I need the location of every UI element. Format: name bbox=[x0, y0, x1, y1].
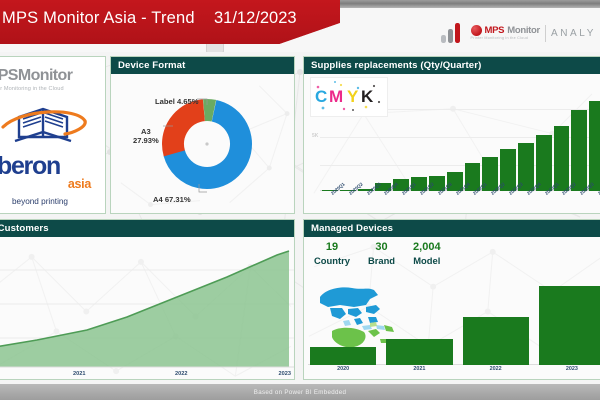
report-app: MPS Monitor Asia - Trend 31/12/2023 MPS … bbox=[0, 0, 600, 400]
bar-chart-icon bbox=[440, 22, 466, 44]
svg-text:M: M bbox=[329, 87, 343, 106]
x-label-2022Q4: 2022Q4 bbox=[518, 191, 534, 213]
x-label-2021Q1: 2021Q1 bbox=[393, 191, 409, 213]
managed-devices-bars bbox=[310, 283, 600, 365]
x-label-2022: 2022 bbox=[175, 371, 187, 377]
x-label-2021Q3: 2021Q3 bbox=[429, 191, 445, 213]
bar-2023Q4[interactable] bbox=[589, 101, 600, 191]
kpi-brand: 30 Brand bbox=[368, 241, 395, 267]
printer-icon bbox=[0, 101, 107, 149]
kpi-model-label: Model bbox=[413, 255, 440, 267]
kpi-country-value: 19 bbox=[326, 241, 338, 255]
x-label-2020Q4: 2020Q4 bbox=[375, 191, 391, 213]
x-label-2023Q1: 2023Q1 bbox=[536, 191, 552, 213]
report-footer: Based on Power BI Embedded bbox=[0, 384, 600, 400]
report-canvas: MPSMonitor Printer Monitoring in the Clo… bbox=[0, 52, 600, 384]
panel-title-managed-devices: Managed Devices bbox=[304, 220, 600, 237]
panel-supplies-replacements: Supplies replacements (Qty/Quarter) 10K … bbox=[303, 56, 600, 214]
oberon-logo: oberon asia beyond printing bbox=[0, 101, 107, 206]
cmyk-image: C M Y K bbox=[310, 77, 388, 117]
kpi-model-value: 2,004 bbox=[413, 241, 441, 255]
page-title: MPS Monitor Asia - Trend bbox=[2, 9, 195, 28]
md-bar-2021[interactable] bbox=[386, 339, 452, 365]
x-label-2022Q2: 2022Q2 bbox=[482, 191, 498, 213]
x-label-2022Q3: 2022Q3 bbox=[500, 191, 516, 213]
y-tick-5k: 5K bbox=[312, 133, 318, 139]
logo-mps-word: MPS bbox=[0, 67, 18, 84]
donut-label-a3: A327.93% bbox=[133, 128, 159, 145]
x-label-2021Q4: 2021Q4 bbox=[447, 191, 463, 213]
logo-tagline: Printer Monitoring in the Cloud bbox=[0, 86, 72, 92]
x-label-2020Q2: 2020Q2 bbox=[340, 191, 356, 213]
md-bar-2022[interactable] bbox=[463, 317, 529, 365]
footer-text: Based on Power BI Embedded bbox=[254, 389, 346, 396]
md-x-label-2020: 2020 bbox=[310, 366, 376, 378]
report-date: 31/12/2023 bbox=[214, 9, 297, 28]
donut-chart-device-format: Label 4.65% A327.93% A4 67.31% bbox=[111, 74, 294, 213]
md-x-label-2021: 2021 bbox=[386, 366, 452, 378]
managed-kpi-group: 19 Country 30 Brand 2,004 Model bbox=[314, 241, 441, 267]
cmyk-letters-icon: C M Y K bbox=[311, 78, 385, 114]
kpi-country-label: Country bbox=[314, 255, 350, 267]
panel-device-format: Device Format bbox=[110, 56, 295, 214]
panel-managed-devices: Managed Devices bbox=[303, 219, 600, 380]
mps-dot-icon bbox=[471, 25, 482, 36]
x-label-2023: 2023 bbox=[279, 371, 291, 377]
md-bar-2020[interactable] bbox=[310, 347, 376, 365]
kpi-brand-label: Brand bbox=[368, 255, 395, 267]
panel-title-supplies: Supplies replacements (Qty/Quarter) bbox=[304, 57, 600, 74]
panel-active-customers: ve Customers bbox=[0, 219, 295, 380]
divider bbox=[545, 25, 546, 42]
product-suffix: ANALY bbox=[551, 28, 596, 39]
bar-2023Q3[interactable] bbox=[571, 110, 587, 191]
header-brand-lockup: MPS Monitor Printer Monitoring in the Cl… bbox=[440, 22, 596, 44]
x-label-2021Q2: 2021Q2 bbox=[411, 191, 427, 213]
title-banner: MPS Monitor Asia - Trend 31/12/2023 bbox=[0, 0, 340, 44]
donut-label-label: Label 4.65% bbox=[155, 98, 198, 107]
brand-tagline: Printer Monitoring in the Cloud bbox=[471, 37, 540, 41]
supplies-x-labels: 2020Q12020Q22020Q32020Q42021Q12021Q22021… bbox=[322, 191, 600, 213]
svg-text:C: C bbox=[315, 87, 327, 106]
x-label-2020Q1: 2020Q1 bbox=[322, 191, 338, 213]
area-chart-active-customers: 0 2021 2022 2023 bbox=[0, 237, 294, 379]
x-label-2021: 2021 bbox=[73, 371, 85, 377]
donut-label-a4: A4 67.31% bbox=[153, 196, 191, 205]
x-label-2022Q1: 2022Q1 bbox=[465, 191, 481, 213]
brand-word-1: MPS bbox=[485, 26, 505, 36]
area-svg bbox=[0, 237, 294, 379]
x-label-2023Q3: 2023Q3 bbox=[571, 191, 587, 213]
kpi-country: 19 Country bbox=[314, 241, 350, 267]
svg-text:Y: Y bbox=[347, 87, 359, 106]
md-x-label-2023: 2023 bbox=[539, 366, 600, 378]
kpi-model: 2,004 Model bbox=[413, 241, 441, 267]
panel-title-active-customers: ve Customers bbox=[0, 220, 294, 237]
logo-monitor-word: Monitor bbox=[18, 67, 72, 84]
oberon-mps-monitor-logo: MPSMonitor Printer Monitoring in the Clo… bbox=[0, 67, 72, 92]
panel-title-device-format: Device Format bbox=[111, 57, 294, 74]
oberon-tagline: beyond printing bbox=[0, 197, 107, 206]
svg-text:K: K bbox=[361, 87, 374, 106]
managed-devices-x-labels: 2020202120222023 bbox=[310, 366, 600, 378]
kpi-brand-value: 30 bbox=[375, 241, 387, 255]
brand-word-2: Monitor bbox=[507, 26, 540, 36]
x-label-2020Q3: 2020Q3 bbox=[358, 191, 374, 213]
panel-logo: MPSMonitor Printer Monitoring in the Clo… bbox=[0, 56, 106, 214]
md-bar-2023[interactable] bbox=[539, 286, 600, 365]
x-label-2023Q2: 2023Q2 bbox=[554, 191, 570, 213]
header-mps-monitor-logo: MPS Monitor Printer Monitoring in the Cl… bbox=[471, 25, 540, 41]
md-x-label-2022: 2022 bbox=[463, 366, 529, 378]
x-label-2023Q4: 2023Q4 bbox=[589, 191, 600, 213]
